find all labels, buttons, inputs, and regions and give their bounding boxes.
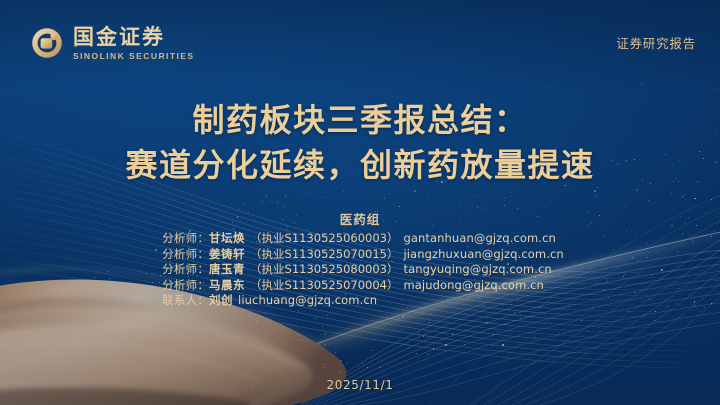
row-license: （执业S1130525060003） xyxy=(250,231,398,245)
title-line-2: 赛道分化延续，创新药放量提速 xyxy=(0,143,720,188)
row-email: majudong@gjzq.com.cn xyxy=(403,278,543,292)
row-role: 分析师： xyxy=(162,262,209,276)
sinolink-circle-logo-icon xyxy=(30,26,64,60)
analyst-row: 分析师：姜铸轩（执业S1130525070015）jiangzhuxuan@gj… xyxy=(162,247,564,263)
row-name: 马晨东 xyxy=(209,278,245,292)
contact-row: 联系人：刘创liuchuang@gjzq.com.cn xyxy=(162,293,564,309)
page-title: 制药板块三季报总结： 赛道分化延续，创新药放量提速 xyxy=(0,98,720,189)
report-type-label: 证券研究报告 xyxy=(616,33,696,52)
row-license: （执业S1130525070004） xyxy=(250,278,398,292)
row-name: 甘坛焕 xyxy=(209,231,245,245)
report-date: 2025/11/1 xyxy=(0,378,720,392)
analyst-row: 分析师：马晨东（执业S1130525070004）majudong@gjzq.c… xyxy=(162,278,564,294)
row-license: （执业S1130525070015） xyxy=(250,247,398,261)
row-email: gantanhuan@gjzq.com.cn xyxy=(403,231,555,245)
row-role: 分析师： xyxy=(162,247,209,261)
row-email: jiangzhuxuan@gjzq.com.cn xyxy=(403,247,563,261)
analyst-team-block: 医药组 分析师：甘坛焕（执业S1130525060003）gantanhuan@… xyxy=(0,209,720,309)
analyst-list: 分析师：甘坛焕（执业S1130525060003）gantanhuan@gjzq… xyxy=(156,231,564,309)
row-role: 分析师： xyxy=(162,278,209,292)
analyst-row: 分析师：唐玉青（执业S1130525080003）tangyuqing@gjzq… xyxy=(162,262,564,278)
title-line-1: 制药板块三季报总结： xyxy=(0,98,720,143)
row-name: 姜铸轩 xyxy=(209,247,245,261)
row-role: 联系人： xyxy=(162,293,209,307)
brand-name-cn: 国金证券 xyxy=(73,27,195,48)
report-cover-slide: 国金证券 SINOLINK SECURITIES 证券研究报告 制药板块三季报总… xyxy=(0,0,720,405)
cover-header: 国金证券 SINOLINK SECURITIES 证券研究报告 xyxy=(0,0,720,82)
row-email: tangyuqing@gjzq.com.cn xyxy=(403,262,551,276)
analyst-row: 分析师：甘坛焕（执业S1130525060003）gantanhuan@gjzq… xyxy=(162,231,564,247)
row-name: 唐玉青 xyxy=(209,262,245,276)
row-role: 分析师： xyxy=(162,231,209,245)
row-name: 刘创 xyxy=(209,293,233,307)
brand-logo: 国金证券 SINOLINK SECURITIES xyxy=(30,26,195,61)
row-email: liuchuang@gjzq.com.cn xyxy=(238,293,377,307)
row-license: （执业S1130525080003） xyxy=(250,262,398,276)
brand-name-en: SINOLINK SECURITIES xyxy=(73,52,195,61)
team-group-label: 医药组 xyxy=(0,209,720,228)
